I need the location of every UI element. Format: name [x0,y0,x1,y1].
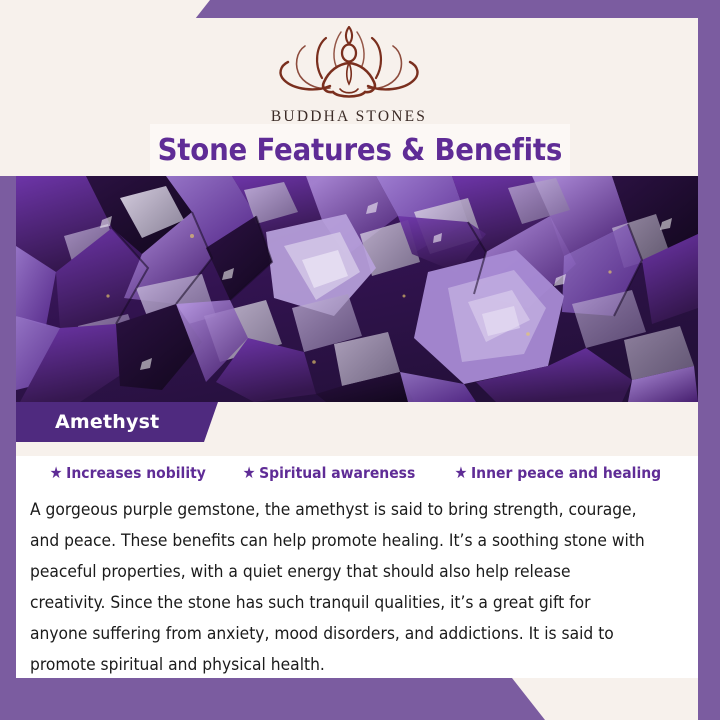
left-purple-strip [0,170,16,678]
benefit-label: Inner peace and healing [471,464,661,482]
star-icon: ★ [50,465,63,481]
benefit-label: Increases nobility [67,464,207,482]
amethyst-photo [16,176,698,402]
benefit-item: ★ Inner peace and healing [454,464,661,482]
stone-name-band: Amethyst [16,402,218,442]
description-card: ★ Increases nobility ★ Spiritual awarene… [16,442,698,678]
brand-logo: BUDDHA STONES [0,26,698,126]
lotus-meditation-icon [274,26,424,104]
star-icon: ★ [454,465,467,481]
infographic-page: BUDDHA STONES Stone Features & Benefits [0,0,720,720]
page-title: Stone Features & Benefits [158,133,563,168]
right-purple-edge [698,0,720,720]
stone-description: A gorgeous purple gemstone, the amethyst… [30,494,647,680]
star-icon: ★ [243,465,256,481]
page-title-band: Stone Features & Benefits [150,124,570,176]
benefit-item: ★ Increases nobility [50,464,206,482]
benefits-list: ★ Increases nobility ★ Spiritual awarene… [16,464,698,482]
card-top-strip [16,442,698,456]
benefit-label: Spiritual awareness [259,464,415,482]
benefit-item: ★ Spiritual awareness [243,464,416,482]
stone-name: Amethyst [55,411,159,433]
